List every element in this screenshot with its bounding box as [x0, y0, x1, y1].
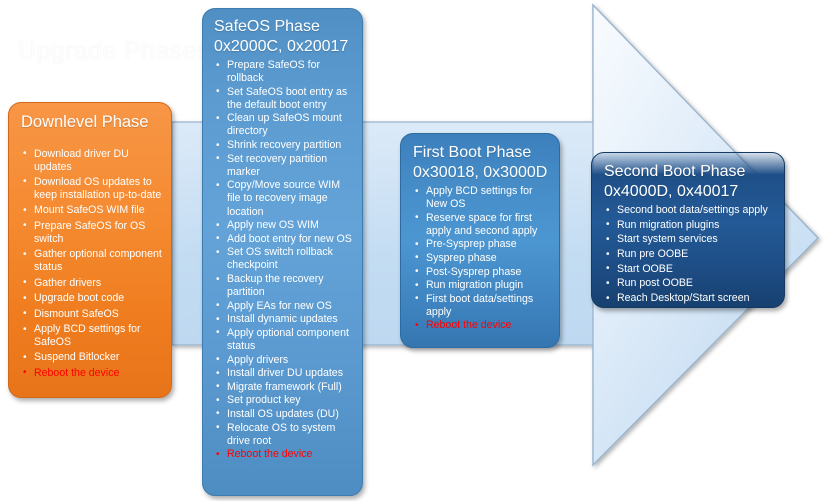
list-item: Pre-Sysprep phase [413, 238, 550, 251]
list-item: Install OS updates (DU) [214, 408, 353, 421]
phase-list-safeos: Prepare SafeOS for rollback Set SafeOS b… [214, 59, 353, 461]
list-item: Gather optional component status [21, 248, 162, 274]
phase-inner-first-boot: First Boot Phase 0x30018, 0x3000D Apply … [401, 134, 559, 347]
list-item: Shrink recovery partition [214, 139, 353, 152]
phase-inner-safeos: SafeOS Phase 0x2000C, 0x20017 Prepare Sa… [203, 9, 362, 495]
phase-code-safeos: 0x2000C, 0x20017 [214, 38, 353, 57]
list-item: Download OS updates to keep installation… [21, 176, 162, 202]
phase-title-safeos: SafeOS Phase [214, 18, 353, 37]
phase-title-first-boot: First Boot Phase [413, 144, 550, 163]
list-item: Set OS switch rollback checkpoint [214, 246, 353, 272]
list-item-reboot: Reboot the device [214, 448, 353, 461]
list-item: Upgrade boot code [21, 292, 162, 305]
watermark-title: Upgrade Phases [18, 37, 210, 66]
phase-box-first-boot[interactable]: First Boot Phase 0x30018, 0x3000D Apply … [400, 133, 560, 348]
list-item: Post-Sysprep phase [413, 266, 550, 279]
list-item: Relocate OS to system drive root [214, 422, 353, 448]
list-item: Copy/Move source WIM file to recovery im… [214, 179, 353, 218]
list-item-reboot: Reboot the device [21, 367, 162, 380]
phase-code-second-boot: 0x4000D, 0x40017 [604, 183, 775, 202]
list-item: Run migration plugin [413, 279, 550, 292]
phase-box-downlevel[interactable]: Downlevel Phase Download driver DU updat… [8, 102, 172, 398]
list-item: Gather drivers [21, 277, 162, 290]
list-item: Suspend Bitlocker [21, 351, 162, 364]
phase-title-downlevel: Downlevel Phase [21, 113, 162, 132]
list-item: First boot data/settings apply [413, 293, 550, 319]
list-item: Apply BCD settings for SafeOS [21, 323, 162, 349]
list-item-reboot: Reboot the device [413, 319, 550, 332]
list-item: Apply optional component status [214, 327, 353, 353]
list-item: Apply BCD settings for New OS [413, 185, 550, 211]
list-item: Start system services [604, 233, 775, 246]
phase-title-second-boot: Second Boot Phase [604, 163, 775, 182]
list-item: Reach Desktop/Start screen [604, 292, 775, 305]
phase-box-second-boot[interactable]: Second Boot Phase 0x4000D, 0x40017 Secon… [591, 152, 785, 308]
list-item: Start OOBE [604, 263, 775, 276]
diagram-canvas: Upgrade Phases Downlevel Phase Download … [0, 0, 825, 501]
list-item: Sysprep phase [413, 252, 550, 265]
list-item: Prepare SafeOS for OS switch [21, 220, 162, 246]
list-item: Reserve space for first apply and second… [413, 212, 550, 238]
list-item: Apply drivers [214, 354, 353, 367]
phase-list-downlevel: Download driver DU updates Download OS u… [21, 148, 162, 380]
list-item: Backup the recovery partition [214, 273, 353, 299]
list-item: Download driver DU updates [21, 148, 162, 174]
list-item: Apply new OS WIM [214, 219, 353, 232]
phase-inner-downlevel: Downlevel Phase Download driver DU updat… [9, 103, 171, 397]
list-item: Set recovery partition marker [214, 153, 353, 179]
list-item: Prepare SafeOS for rollback [214, 59, 353, 85]
phase-box-safeos[interactable]: SafeOS Phase 0x2000C, 0x20017 Prepare Sa… [202, 8, 363, 496]
list-item: Run pre OOBE [604, 248, 775, 261]
list-item: Second boot data/settings apply [604, 204, 775, 217]
phase-list-second-boot: Second boot data/settings apply Run migr… [604, 204, 775, 305]
list-item: Install dynamic updates [214, 313, 353, 326]
list-item: Migrate framework (Full) [214, 381, 353, 394]
phase-code-first-boot: 0x30018, 0x3000D [413, 164, 550, 183]
list-item: Install driver DU updates [214, 367, 353, 380]
list-item: Mount SafeOS WIM file [21, 204, 162, 217]
list-item: Set product key [214, 394, 353, 407]
list-item: Set SafeOS boot entry as the default boo… [214, 86, 353, 112]
list-item: Add boot entry for new OS [214, 233, 353, 246]
list-item: Clean up SafeOS mount directory [214, 112, 353, 138]
list-item: Run migration plugins [604, 219, 775, 232]
list-item: Apply EAs for new OS [214, 300, 353, 313]
phase-inner-second-boot: Second Boot Phase 0x4000D, 0x40017 Secon… [592, 153, 784, 307]
list-item: Run post OOBE [604, 277, 775, 290]
list-item: Dismount SafeOS [21, 308, 162, 321]
phase-list-first-boot: Apply BCD settings for New OS Reserve sp… [413, 185, 550, 333]
